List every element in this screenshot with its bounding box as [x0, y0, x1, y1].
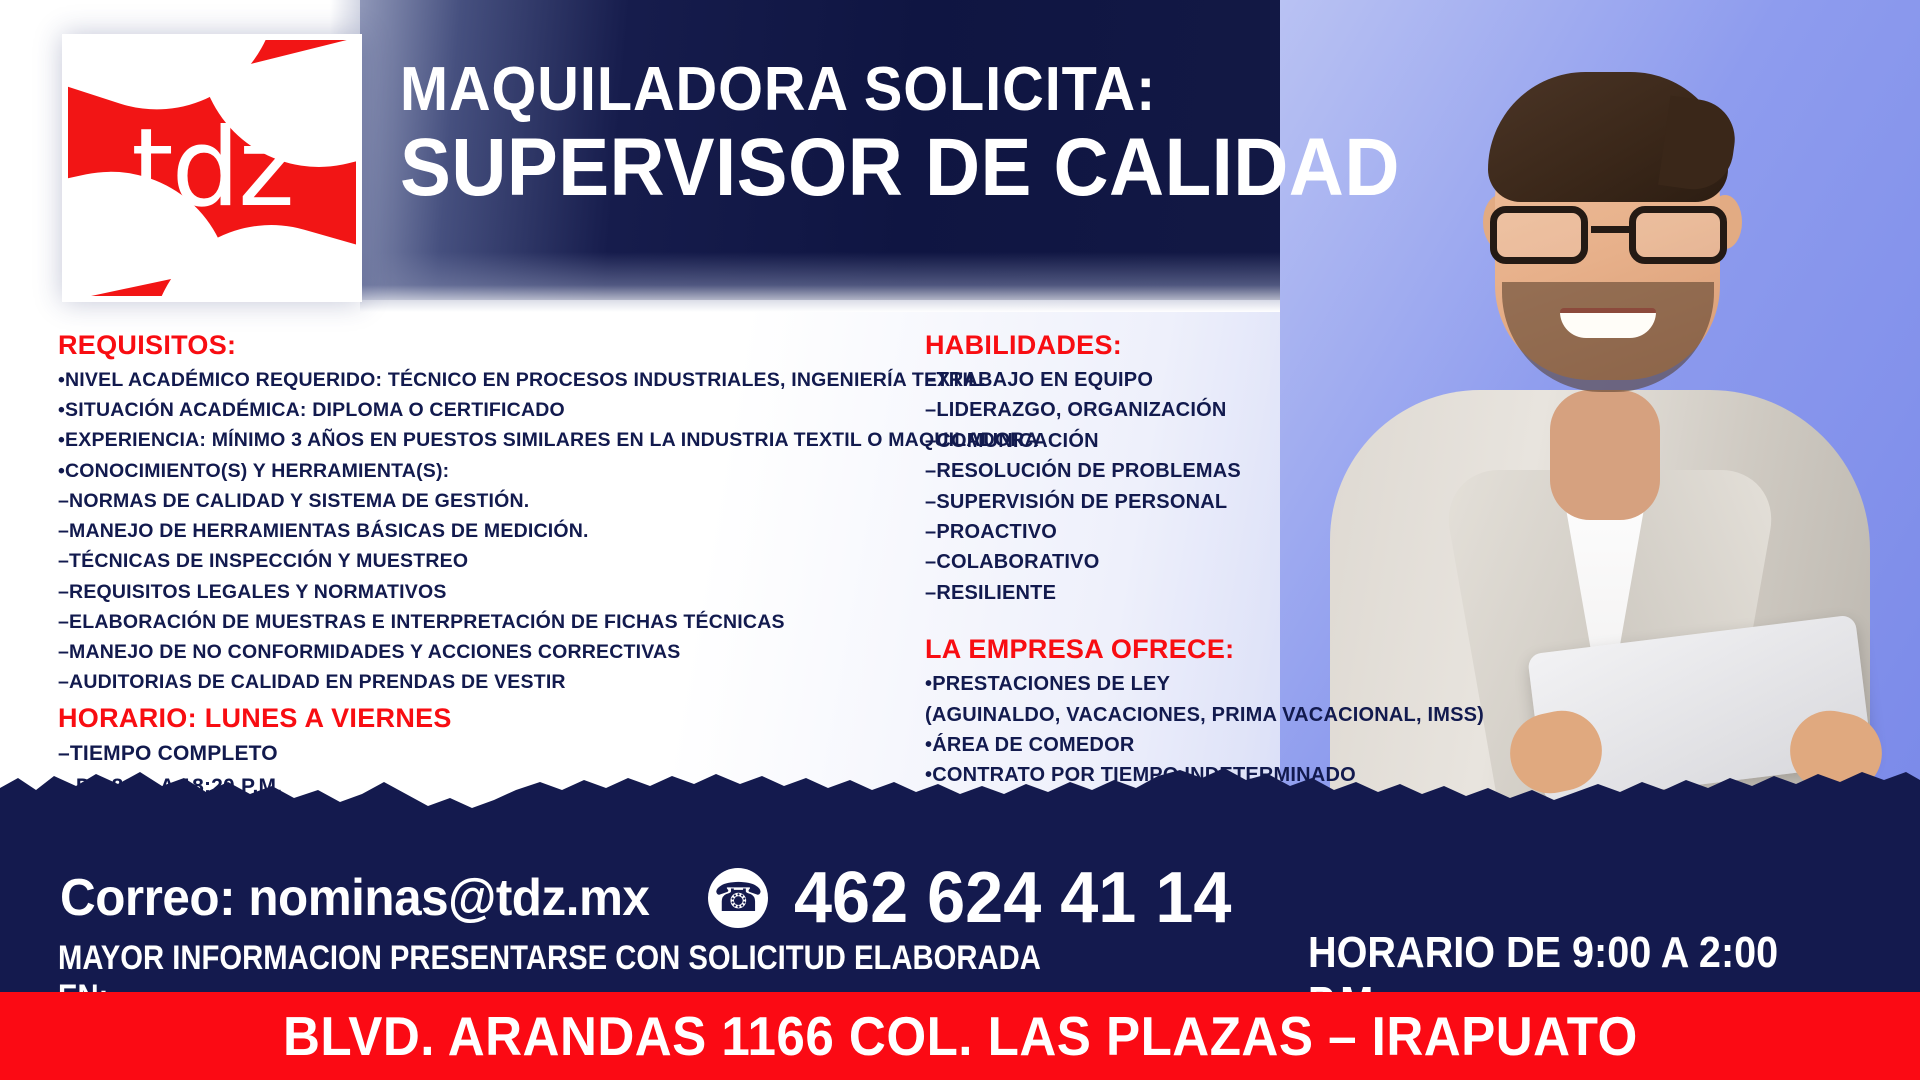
- horario-heading: HORARIO: LUNES A VIERNES: [58, 703, 958, 734]
- skills-column: HABILIDADES: –TRABAJO EN EQUIPO –LIDERAZ…: [925, 330, 1395, 791]
- habilidad-item: –RESILIENTE: [925, 578, 1395, 608]
- lens-left: [1490, 206, 1588, 264]
- habilidad-item: –COMUNICACIÓN: [925, 426, 1395, 456]
- smile: [1560, 308, 1656, 338]
- requisito-item: •SITUACIÓN ACADÉMICA: DIPLOMA O CERTIFIC…: [58, 395, 958, 425]
- logo-mark: tdz: [68, 40, 356, 296]
- address-text: BLVD. ARANDAS 1166 COL. LAS PLAZAS – IRA…: [283, 1004, 1638, 1068]
- requisitos-heading: REQUISITOS:: [58, 330, 958, 361]
- habilidad-item: –COLABORATIVO: [925, 547, 1395, 577]
- glasses-bridge: [1591, 226, 1629, 233]
- requisito-item: •CONOCIMIENTO(S) Y HERRAMIENTA(S):: [58, 456, 958, 486]
- ofrece-item: •ÁREA DE COMEDOR: [925, 730, 1395, 760]
- requisito-item: •EXPERIENCIA: MÍNIMO 3 AÑOS EN PUESTOS S…: [58, 425, 958, 455]
- eyeglasses-icon: [1486, 206, 1731, 266]
- address-bar: BLVD. ARANDAS 1166 COL. LAS PLAZAS – IRA…: [0, 992, 1920, 1080]
- habilidad-item: –LIDERAZGO, ORGANIZACIÓN: [925, 395, 1395, 425]
- logo-wordmark: tdz: [68, 40, 356, 296]
- phone-icon: [708, 868, 768, 928]
- neck: [1550, 390, 1660, 520]
- job-posting-flyer: MAQUILADORA SOLICITA: SUPERVISOR DE CALI…: [0, 0, 1920, 1080]
- email-label[interactable]: Correo: nominas@tdz.mx: [60, 868, 649, 928]
- phone-number[interactable]: 462 624 41 14: [794, 857, 1231, 939]
- requisito-item: –AUDITORIAS DE CALIDAD EN PRENDAS DE VES…: [58, 667, 958, 697]
- requisito-item: –MANEJO DE HERRAMIENTAS BÁSICAS DE MEDIC…: [58, 516, 958, 546]
- ofrece-heading: LA EMPRESA OFRECE:: [925, 634, 1395, 665]
- requisito-item: –MANEJO DE NO CONFORMIDADES Y ACCIONES C…: [58, 637, 958, 667]
- habilidades-heading: HABILIDADES:: [925, 330, 1395, 361]
- company-logo: tdz: [62, 34, 362, 302]
- ofrece-subitem: (AGUINALDO, VACACIONES, PRIMA VACACIONAL…: [925, 700, 1395, 730]
- header-text: MAQUILADORA SOLICITA: SUPERVISOR DE CALI…: [400, 58, 1475, 211]
- requisito-item: –ELABORACIÓN DE MUESTRAS E INTERPRETACIÓ…: [58, 607, 958, 637]
- footer-contact-band: Correo: nominas@tdz.mx 462 624 41 14 MAY…: [0, 760, 1920, 1080]
- requisito-item: –NORMAS DE CALIDAD Y SISTEMA DE GESTIÓN.: [58, 486, 958, 516]
- habilidad-item: –TRABAJO EN EQUIPO: [925, 365, 1395, 395]
- habilidad-item: –RESOLUCIÓN DE PROBLEMAS: [925, 456, 1395, 486]
- hair: [1488, 72, 1728, 202]
- habilidad-item: –SUPERVISIÓN DE PERSONAL: [925, 487, 1395, 517]
- lens-right: [1629, 206, 1727, 264]
- habilidad-item: –PROACTIVO: [925, 517, 1395, 547]
- requirements-column: REQUISITOS: •NIVEL ACADÉMICO REQUERIDO: …: [58, 330, 958, 804]
- page-title: SUPERVISOR DE CALIDAD: [400, 125, 1400, 211]
- torn-edge-shape: [0, 760, 1920, 830]
- requisito-item: –REQUISITOS LEGALES Y NORMATIVOS: [58, 577, 958, 607]
- torn-paper-edge: [0, 760, 1920, 830]
- requisito-item: –TÉCNICAS DE INSPECCIÓN Y MUESTREO: [58, 546, 958, 576]
- requisito-item: •NIVEL ACADÉMICO REQUERIDO: TÉCNICO EN P…: [58, 365, 958, 395]
- ofrece-item: •PRESTACIONES DE LEY: [925, 669, 1395, 699]
- header-line-1: MAQUILADORA SOLICITA:: [400, 58, 1400, 121]
